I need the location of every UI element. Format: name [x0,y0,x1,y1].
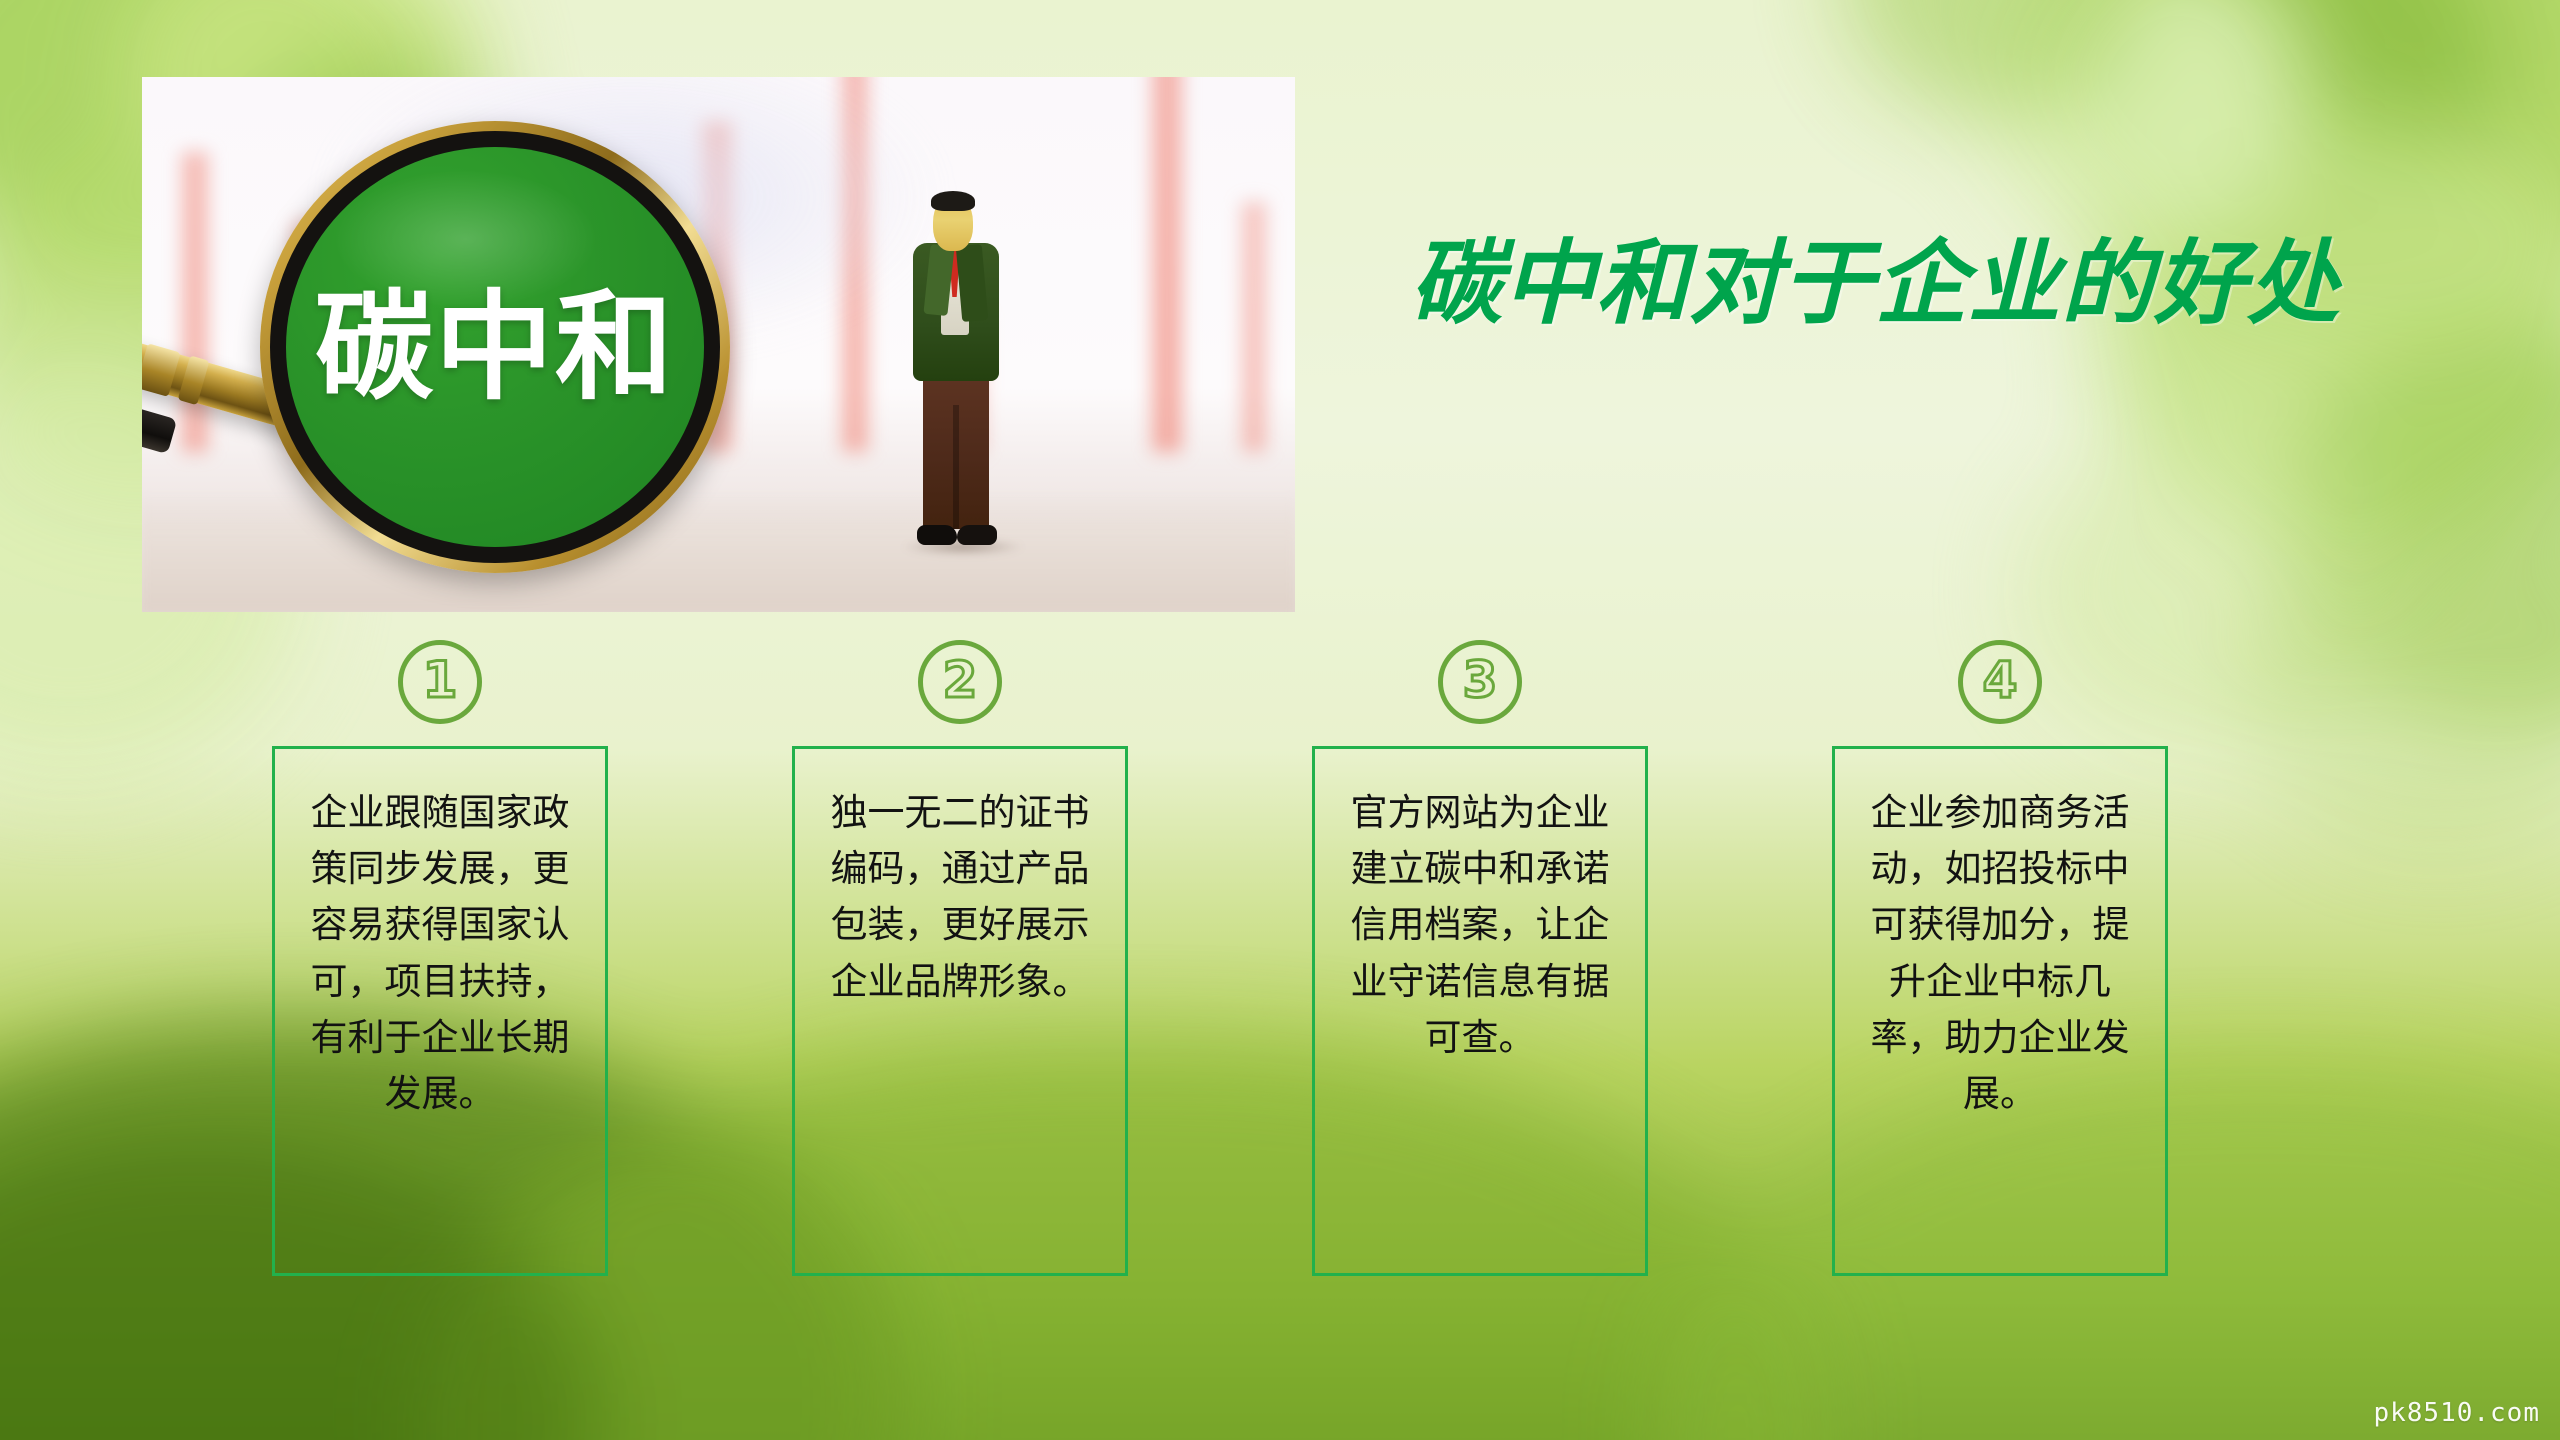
benefit-card-1: 企业跟随国家政策同步发展，更容易获得国家认可，项目扶持，有利于企业长期发展。 [272,746,608,1276]
step-number-1: 1 [423,655,458,709]
benefit-card-2: 独一无二的证书编码，通过产品包装，更好展示企业品牌形象。 [792,746,1128,1276]
step-number-3: 3 [1463,655,1498,709]
benefit-column-3: 3 官方网站为企业建立碳中和承诺信用档案，让企业守诺信息有据可查。 [1280,640,1680,1320]
benefit-column-1: 1 企业跟随国家政策同步发展，更容易获得国家认可，项目扶持，有利于企业长期发展。 [240,640,640,1320]
slide-canvas: 碳中和 碳中和对于企业的好处 1 企业跟随国家政策 [0,0,2560,1440]
step-number-4: 4 [1983,655,2018,709]
magnifier-lens-label: 碳中和 [315,288,675,406]
step-number-2: 2 [943,655,978,709]
magnifier-lens: 碳中和 [286,147,704,547]
step-number-circle-3: 3 [1438,640,1522,724]
benefit-text-3: 官方网站为企业建立碳中和承诺信用档案，让企业守诺信息有据可查。 [1337,785,1623,1066]
magnifier-gloss [336,171,595,307]
benefits-columns: 1 企业跟随国家政策同步发展，更容易获得国家认可，项目扶持，有利于企业长期发展。… [240,640,2200,1320]
benefit-column-2: 2 独一无二的证书编码，通过产品包装，更好展示企业品牌形象。 [760,640,1160,1320]
carbon-neutral-magnifier-photo: 碳中和 [142,77,1295,612]
benefit-column-4: 4 企业参加商务活动，如招投标中可获得加分，提升企业中标几率，助力企业发展。 [1800,640,2200,1320]
benefit-text-4: 企业参加商务活动，如招投标中可获得加分，提升企业中标几率，助力企业发展。 [1857,785,2143,1122]
page-title: 碳中和对于企业的好处 [1380,232,2370,335]
benefit-card-3: 官方网站为企业建立碳中和承诺信用档案，让企业守诺信息有据可查。 [1312,746,1648,1276]
magnifier-icon: 碳中和 [260,121,730,573]
benefit-card-4: 企业参加商务活动，如招投标中可获得加分，提升企业中标几率，助力企业发展。 [1832,746,2168,1276]
step-number-circle-2: 2 [918,640,1002,724]
benefit-text-2: 独一无二的证书编码，通过产品包装，更好展示企业品牌形象。 [817,785,1103,1010]
benefit-text-1: 企业跟随国家政策同步发展，更容易获得国家认可，项目扶持，有利于企业长期发展。 [297,785,583,1122]
step-number-circle-1: 1 [398,640,482,724]
businessman-figurine [897,195,1015,567]
step-number-circle-4: 4 [1958,640,2042,724]
site-watermark: pk8510.com [2373,1398,2540,1428]
